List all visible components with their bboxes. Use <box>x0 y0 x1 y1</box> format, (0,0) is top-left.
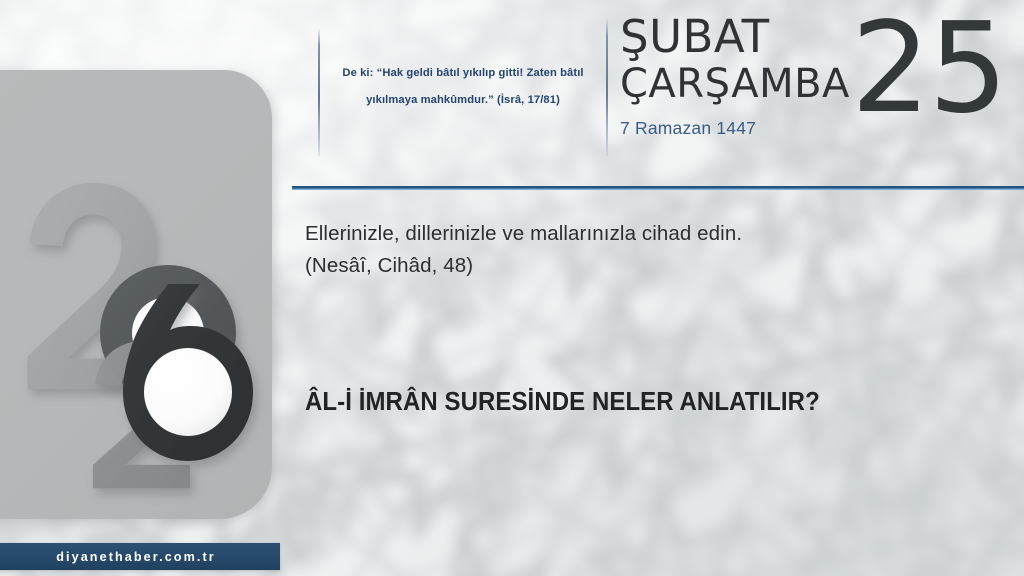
footer-bar: diyanethaber.com.tr <box>0 543 280 570</box>
verse-text: De ki: “Hak geldi bâtıl yıkılıp gitti! Z… <box>336 60 590 115</box>
divider-vertical-date <box>606 18 608 156</box>
quote-block: Ellerinizle, dillerinizle ve mallarınızl… <box>305 218 945 282</box>
date-block: ŞUBAT ÇARŞAMBA 7 Ramazan 1447 <box>620 16 850 139</box>
day-number: 25 <box>851 6 1006 131</box>
website-label: diyanethaber.com.tr <box>56 550 216 564</box>
quote-line-1: Ellerinizle, dillerinizle ve mallarınızl… <box>305 218 945 250</box>
calendar-page: De ki: “Hak geldi bâtıl yıkılıp gitti! Z… <box>0 0 1024 576</box>
weekday-label: ÇARŞAMBA <box>620 66 850 103</box>
quote-source: (Nesâî, Cihâd, 48) <box>305 250 945 282</box>
month-label: ŞUBAT <box>620 16 850 57</box>
divider-vertical-verse <box>318 28 320 156</box>
year-logo-2026 <box>0 70 290 519</box>
divider-horizontal <box>292 186 1024 190</box>
hijri-date-label: 7 Ramazan 1447 <box>620 118 850 139</box>
headline-text: ÂL-İ İMRÂN SURESİNDE NELER ANLATILIR? <box>305 388 954 417</box>
